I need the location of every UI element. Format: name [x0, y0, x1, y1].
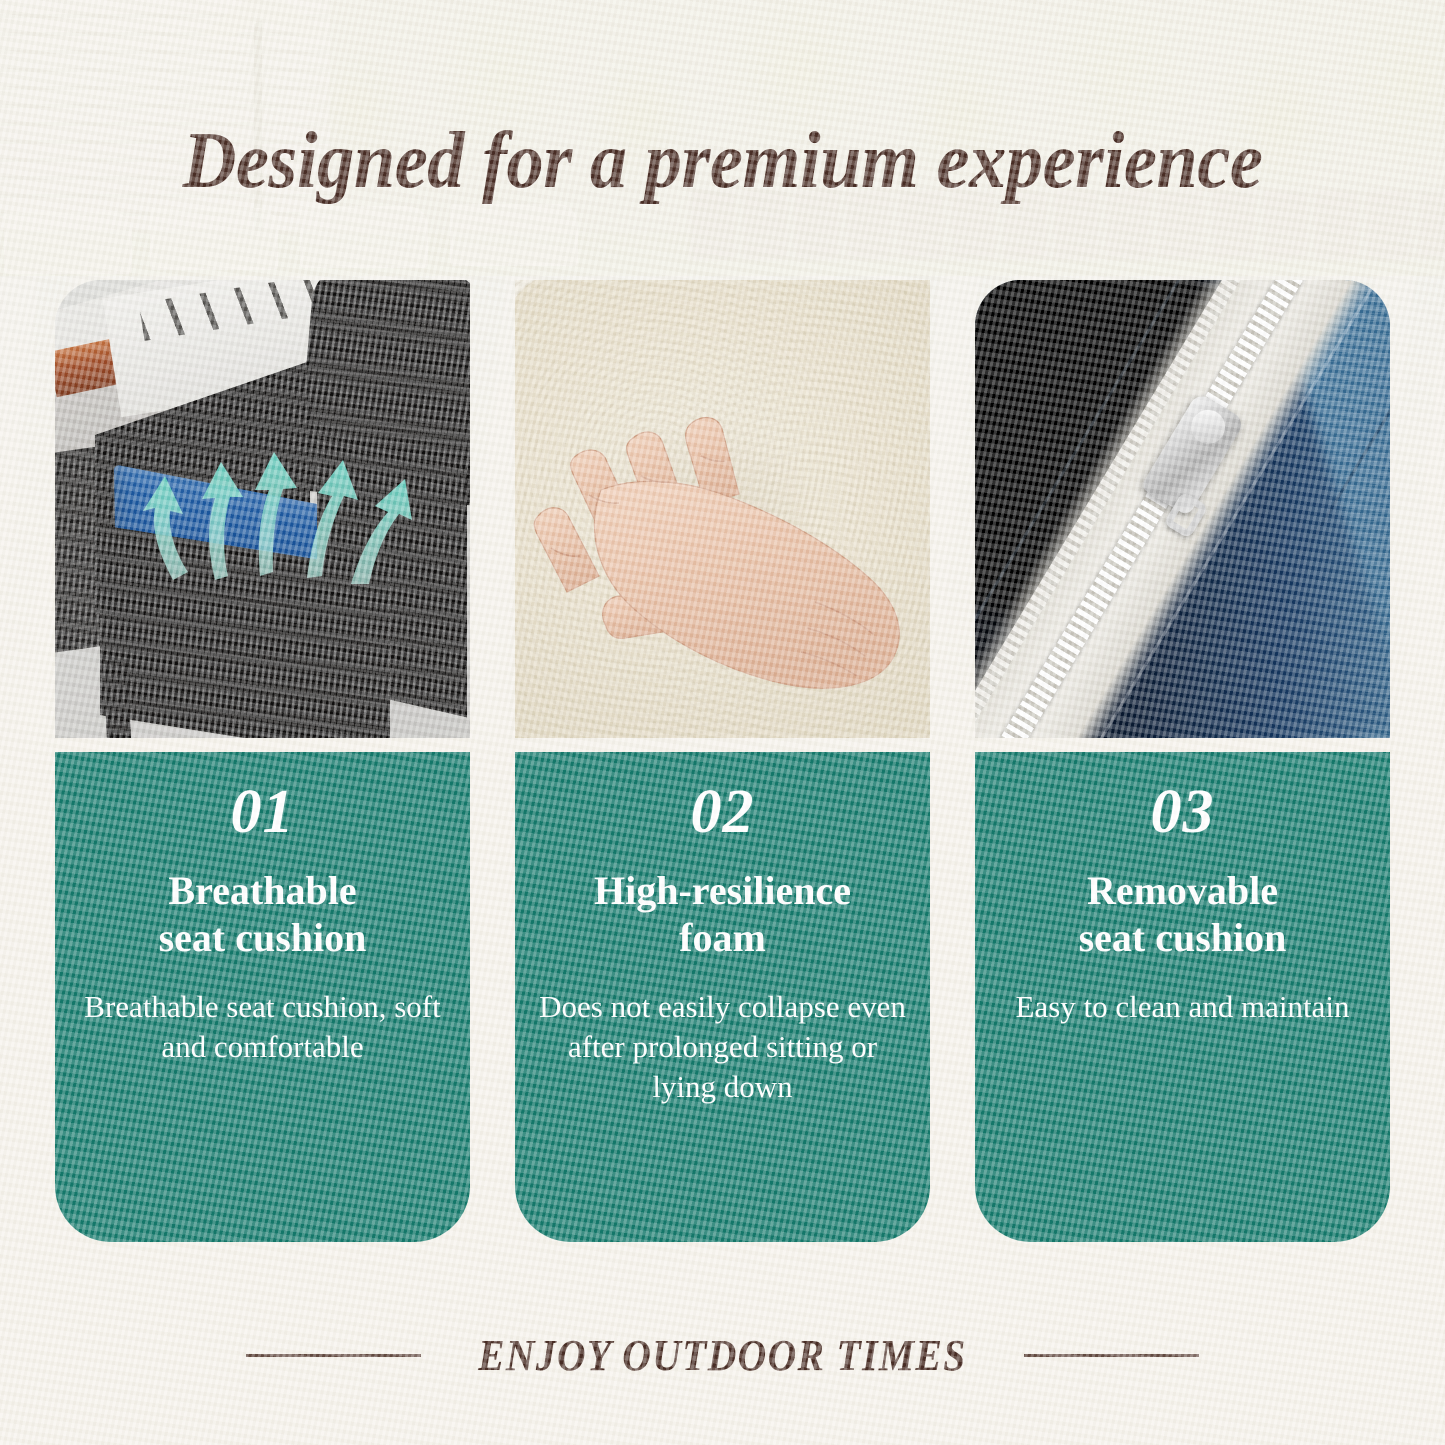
- feature-number: 01: [77, 780, 448, 845]
- feature-title-line-2: seat cushion: [997, 914, 1368, 961]
- feature-description: Breathable seat cushion, soft and comfor…: [77, 987, 448, 1066]
- product-feature-infographic: Designed for a premium experience: [0, 0, 1445, 1445]
- feature-card-1: 01 Breathable seat cushion Breathable se…: [55, 752, 470, 1242]
- feature-column-1: 01 Breathable seat cushion Breathable se…: [55, 280, 470, 1245]
- removable-cushion-zipper-photo: [975, 280, 1390, 738]
- feature-title-line-2: seat cushion: [77, 914, 448, 961]
- feature-description: Does not easily collapse even after prol…: [537, 987, 908, 1106]
- divider-line-left: [246, 1354, 421, 1357]
- footer-tagline: ENJOY OUTDOOR TIMES: [0, 1330, 1445, 1381]
- divider-line-right: [1024, 1354, 1199, 1357]
- page-title: Designed for a premium experience: [51, 116, 1395, 207]
- hand-icon: [515, 280, 930, 738]
- feature-number: 02: [537, 780, 908, 845]
- airflow-arrows-icon: [55, 280, 470, 738]
- feature-title: High-resilience foam: [537, 867, 908, 961]
- feature-column-2: 02 High-resilience foam Does not easily …: [515, 280, 930, 1245]
- feature-title-line-1: Breathable: [77, 867, 448, 914]
- feature-number: 03: [997, 780, 1368, 845]
- feature-columns: 01 Breathable seat cushion Breathable se…: [55, 280, 1390, 1245]
- footer-text: ENJOY OUTDOOR TIMES: [478, 1330, 966, 1381]
- feature-card-2: 02 High-resilience foam Does not easily …: [515, 752, 930, 1242]
- feature-title-line-2: foam: [537, 914, 908, 961]
- feature-title: Removable seat cushion: [997, 867, 1368, 961]
- feature-title: Breathable seat cushion: [77, 867, 448, 961]
- high-resilience-foam-photo: [515, 280, 930, 738]
- feature-title-line-1: High-resilience: [537, 867, 908, 914]
- feature-card-3: 03 Removable seat cushion Easy to clean …: [975, 752, 1390, 1242]
- feature-title-line-1: Removable: [997, 867, 1368, 914]
- feature-column-3: 03 Removable seat cushion Easy to clean …: [975, 280, 1390, 1245]
- feature-description: Easy to clean and maintain: [997, 987, 1368, 1027]
- breathable-cushion-photo: [55, 280, 470, 738]
